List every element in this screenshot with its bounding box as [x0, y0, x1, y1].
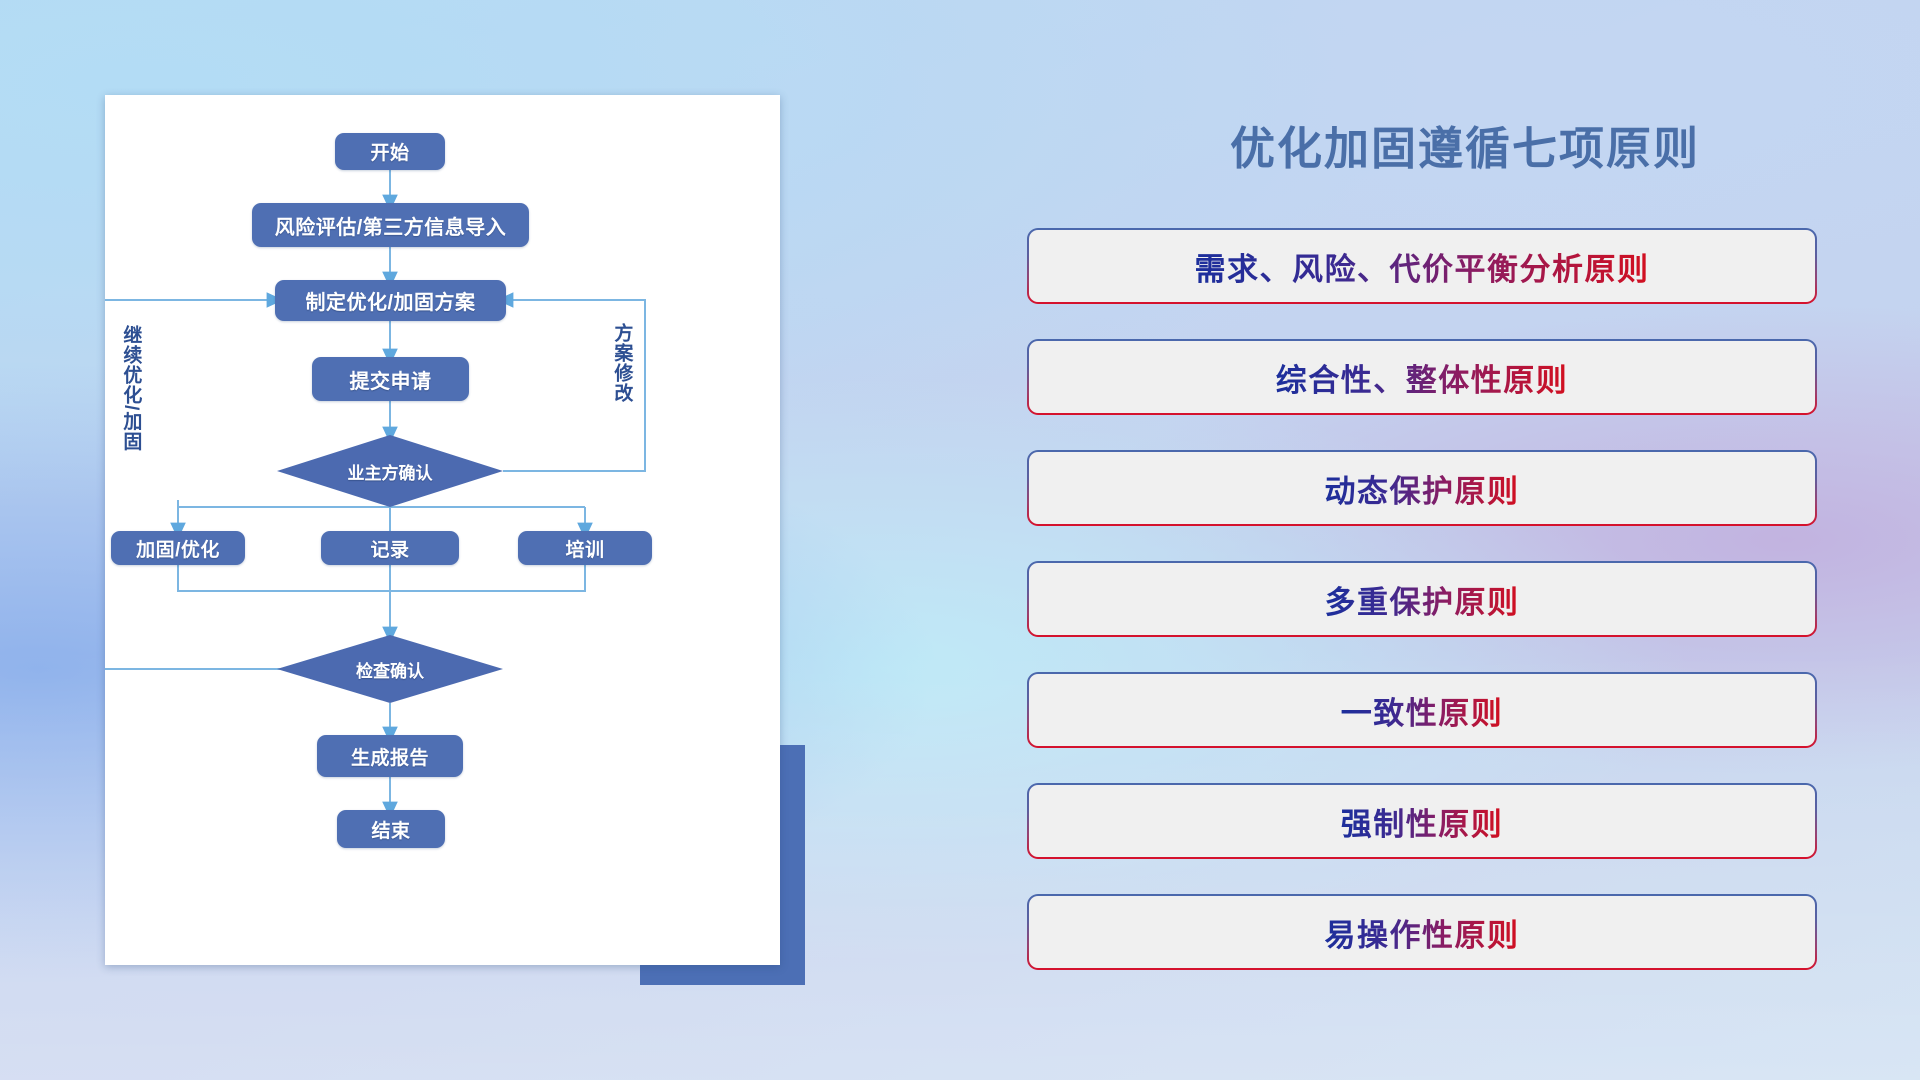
flow-node-end[interactable]: 结束 [337, 810, 445, 848]
flow-node-check-confirm-label: 检查确认 [277, 635, 503, 703]
principle-item-label: 需求、风险、代价平衡分析原则 [1195, 244, 1650, 289]
principle-item-7[interactable]: 易操作性原则 [1027, 894, 1817, 970]
flow-node-owner-confirm-label: 业主方确认 [277, 435, 503, 507]
principle-item-1[interactable]: 需求、风险、代价平衡分析原则 [1027, 228, 1817, 304]
flow-node-reinforce[interactable]: 加固/优化 [111, 531, 245, 565]
flowchart-card: 开始 风险评估/第三方信息导入 制定优化/加固方案 提交申请 业主方确认 加固/… [105, 95, 780, 965]
flow-node-check-confirm[interactable]: 检查确认 [277, 635, 503, 703]
flow-edge-label-continue-optimize: 继续优化/加固 [121, 325, 140, 465]
principle-item-4[interactable]: 多重保护原则 [1027, 561, 1817, 637]
page-title: 优化加固遵循七项原则 [1010, 112, 1920, 177]
principle-item-5[interactable]: 一致性原则 [1027, 672, 1817, 748]
principle-item-label: 强制性原则 [1341, 799, 1504, 844]
flow-node-risk-assessment[interactable]: 风险评估/第三方信息导入 [252, 203, 529, 247]
principle-list: 需求、风险、代价平衡分析原则 综合性、整体性原则 动态保护原则 多重保护原则 一… [1027, 228, 1817, 1005]
principle-item-3[interactable]: 动态保护原则 [1027, 450, 1817, 526]
principles-panel: 优化加固遵循七项原则 需求、风险、代价平衡分析原则 综合性、整体性原则 动态保护… [1010, 0, 1920, 1080]
principle-item-label: 一致性原则 [1341, 688, 1504, 733]
flow-node-owner-confirm[interactable]: 业主方确认 [277, 435, 503, 507]
principle-item-2[interactable]: 综合性、整体性原则 [1027, 339, 1817, 415]
principle-item-label: 易操作性原则 [1325, 910, 1520, 955]
flow-node-start[interactable]: 开始 [335, 133, 445, 170]
flow-node-submit-application[interactable]: 提交申请 [312, 357, 469, 401]
flow-node-make-plan[interactable]: 制定优化/加固方案 [275, 280, 506, 321]
principle-item-label: 综合性、整体性原则 [1276, 355, 1569, 400]
principle-item-label: 动态保护原则 [1325, 466, 1520, 511]
flow-node-training[interactable]: 培训 [518, 531, 652, 565]
principle-item-6[interactable]: 强制性原则 [1027, 783, 1817, 859]
principle-item-label: 多重保护原则 [1325, 577, 1520, 622]
flow-edge-label-plan-revision: 方案修改 [612, 323, 631, 433]
flow-node-generate-report[interactable]: 生成报告 [317, 735, 463, 777]
flow-node-record[interactable]: 记录 [321, 531, 459, 565]
